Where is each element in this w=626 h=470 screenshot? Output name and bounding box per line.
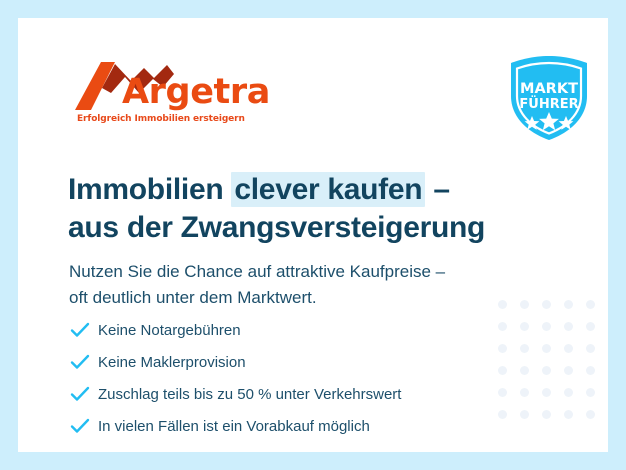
list-item: In vielen Fällen ist ein Vorabkauf mögli… xyxy=(70,410,540,442)
grid-dot xyxy=(586,388,595,397)
grid-dot xyxy=(586,344,595,353)
badge-line2: FÜHRER xyxy=(519,96,578,112)
subheadline-line2: oft deutlich unter dem Marktwert. xyxy=(69,285,569,311)
benefit-label: In vielen Fällen ist ein Vorabkauf mögli… xyxy=(98,419,370,434)
subheadline-line1: Nutzen Sie die Chance auf attraktive Kau… xyxy=(69,259,569,285)
promo-banner-card: Argetra Erfolgreich Immobilien ersteiger… xyxy=(18,18,608,452)
grid-dot xyxy=(564,388,573,397)
check-icon xyxy=(70,386,98,402)
grid-dot xyxy=(542,388,551,397)
benefit-label: Keine Maklerprovision xyxy=(98,355,246,370)
subheadline: Nutzen Sie die Chance auf attraktive Kau… xyxy=(69,259,569,312)
check-icon xyxy=(70,322,98,338)
grid-dot xyxy=(564,366,573,375)
grid-dot xyxy=(542,344,551,353)
market-leader-badge: MARKT FÜHRER xyxy=(507,54,591,142)
grid-dot xyxy=(564,410,573,419)
list-item: Keine Notargebühren xyxy=(70,314,540,346)
logo-tagline: Erfolgreich Immobilien ersteigern xyxy=(77,114,245,124)
headline-highlight: clever kaufen xyxy=(231,172,425,207)
grid-dot xyxy=(586,300,595,309)
grid-dot xyxy=(586,366,595,375)
check-icon xyxy=(70,418,98,434)
headline-line2: aus der Zwangsversteigerung xyxy=(68,209,588,247)
headline-part-before: Immobilien xyxy=(68,173,231,206)
list-item: Keine Maklerprovision xyxy=(70,346,540,378)
grid-dot xyxy=(564,344,573,353)
benefit-label: Keine Notargebühren xyxy=(98,323,241,338)
benefit-list: Keine Notargebühren Keine Maklerprovisio… xyxy=(70,314,540,442)
grid-dot xyxy=(564,322,573,331)
logo-wordmark: Argetra xyxy=(122,75,270,110)
benefit-label: Zuschlag teils bis zu 50 % unter Verkehr… xyxy=(98,387,401,402)
grid-dot xyxy=(586,322,595,331)
argetra-logo[interactable]: Argetra Erfolgreich Immobilien ersteiger… xyxy=(75,62,275,128)
badge-line1: MARKT xyxy=(520,81,578,97)
headline: Immobilien clever kaufen – aus der Zwang… xyxy=(68,171,588,248)
grid-dot xyxy=(542,322,551,331)
grid-dot xyxy=(542,410,551,419)
check-icon xyxy=(70,354,98,370)
headline-part-after: – xyxy=(425,173,449,206)
list-item: Zuschlag teils bis zu 50 % unter Verkehr… xyxy=(70,378,540,410)
grid-dot xyxy=(586,410,595,419)
grid-dot xyxy=(542,366,551,375)
